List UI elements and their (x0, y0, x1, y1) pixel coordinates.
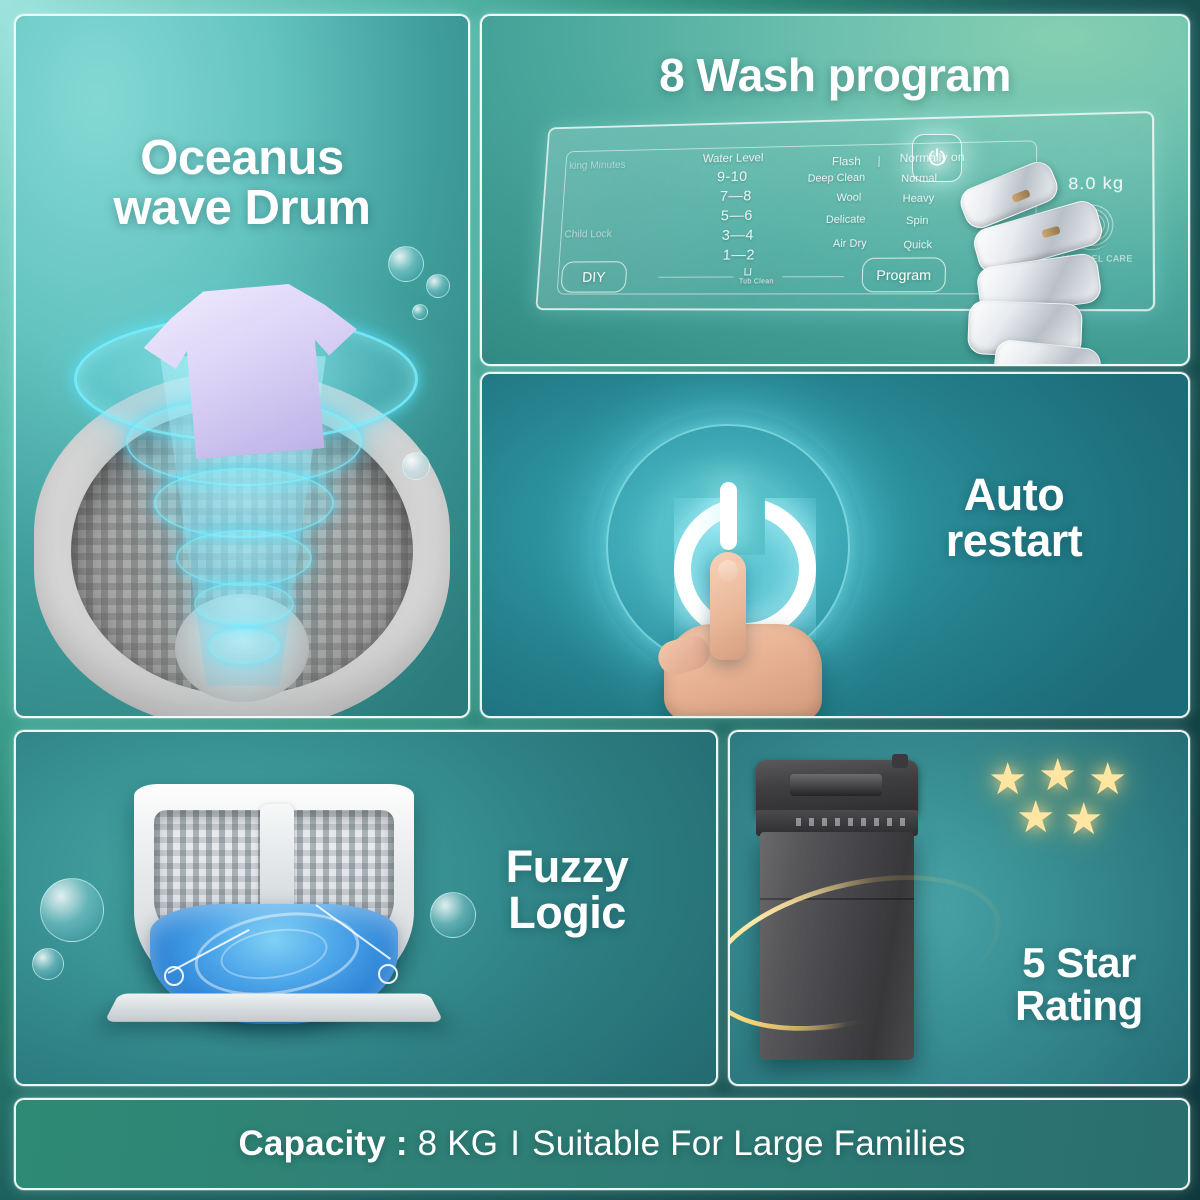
label-child-lock: Child Lock (564, 228, 612, 240)
program-option-right: Heavy (902, 193, 934, 206)
bubble-icon (402, 452, 430, 480)
hand-index-finger (710, 552, 746, 660)
panel-title-oceanus: Oceanus wave Drum (16, 134, 468, 234)
program-option-left: Air Dry (833, 238, 867, 250)
panel-fuzzy-logic: Fuzzy Logic (14, 730, 718, 1086)
program-button[interactable]: Program (861, 257, 946, 292)
panel-title-star-rating: 5 Star Rating (984, 942, 1174, 1028)
machine-lid-slot (790, 774, 882, 796)
program-option-right: Spin (906, 215, 929, 227)
label-tub-clean: Tub Clean (739, 278, 774, 285)
banner-separator: I (498, 1124, 532, 1163)
bubble-icon (32, 948, 64, 980)
water-level-value: 1—2 (722, 247, 755, 264)
fingernail (718, 560, 738, 582)
robot-hand-graphic (950, 168, 1128, 366)
panel-oceanus-wave-drum: Oceanus wave Drum (14, 14, 470, 718)
machine-indicator-lights (796, 818, 906, 826)
header-water-level: Water Level (702, 151, 763, 166)
star-icon: ★ (1016, 796, 1055, 840)
star-icon: ★ (1038, 754, 1077, 798)
program-option-left: Deep Clean (807, 172, 865, 185)
bubble-icon (388, 246, 424, 282)
panel-star-rating: ★ ★ ★ ★ ★ 5 Star Rating (728, 730, 1190, 1086)
star-rating-group: ★ ★ ★ ★ ★ (982, 754, 1172, 864)
tub-base-platform (104, 993, 443, 1021)
washer-tub-cutaway-graphic (134, 766, 414, 1016)
diy-button[interactable]: DIY (560, 261, 627, 292)
pointing-hand-graphic (658, 552, 836, 718)
bubble-icon (40, 878, 104, 942)
tub-clean-rule-right (782, 276, 844, 277)
vortex-ring (154, 468, 334, 538)
panel-title-auto-restart: Auto restart (874, 472, 1154, 564)
vortex-ring (208, 628, 280, 664)
measure-dot-right (378, 964, 398, 984)
water-level-value: 3—4 (721, 227, 754, 244)
vortex-ring (176, 530, 312, 586)
tub-clean-icon: ⊔ (743, 264, 753, 278)
panel-title-wash-program: 8 Wash program (482, 52, 1188, 99)
banner-capacity-value: 8 KG (418, 1124, 499, 1163)
panel-auto-restart: Auto restart (480, 372, 1190, 718)
panel-wash-program: 8 Wash program king Minutes Child Lock W… (480, 14, 1190, 366)
water-level-value: 7—8 (719, 188, 752, 205)
machine-knob (892, 754, 908, 768)
power-icon-bar (720, 482, 737, 550)
program-option-left: Delicate (826, 214, 866, 226)
banner-capacity-label: Capacity : (238, 1124, 407, 1163)
vortex-ring (194, 582, 294, 626)
bubble-icon (426, 274, 450, 298)
machine-lid (756, 760, 918, 814)
banner-text: Capacity : 8 KGISuitable For Large Famil… (238, 1124, 965, 1164)
panel-title-fuzzy-logic: Fuzzy Logic (442, 844, 692, 936)
program-option-right: Quick (903, 239, 932, 251)
water-level-value: 9-10 (717, 168, 748, 185)
star-icon: ★ (1064, 798, 1103, 842)
bubble-icon (412, 304, 428, 320)
header-divider: | (877, 154, 881, 168)
banner-tagline: Suitable For Large Families (532, 1124, 965, 1163)
capacity-banner: Capacity : 8 KGISuitable For Large Famil… (14, 1098, 1190, 1190)
label-soaking-minutes: king Minutes (569, 159, 626, 172)
measure-dot-left (164, 966, 184, 986)
water-level-value: 5—6 (720, 207, 753, 224)
program-option-left: Wool (836, 192, 861, 204)
header-flash: Flash (832, 154, 861, 168)
